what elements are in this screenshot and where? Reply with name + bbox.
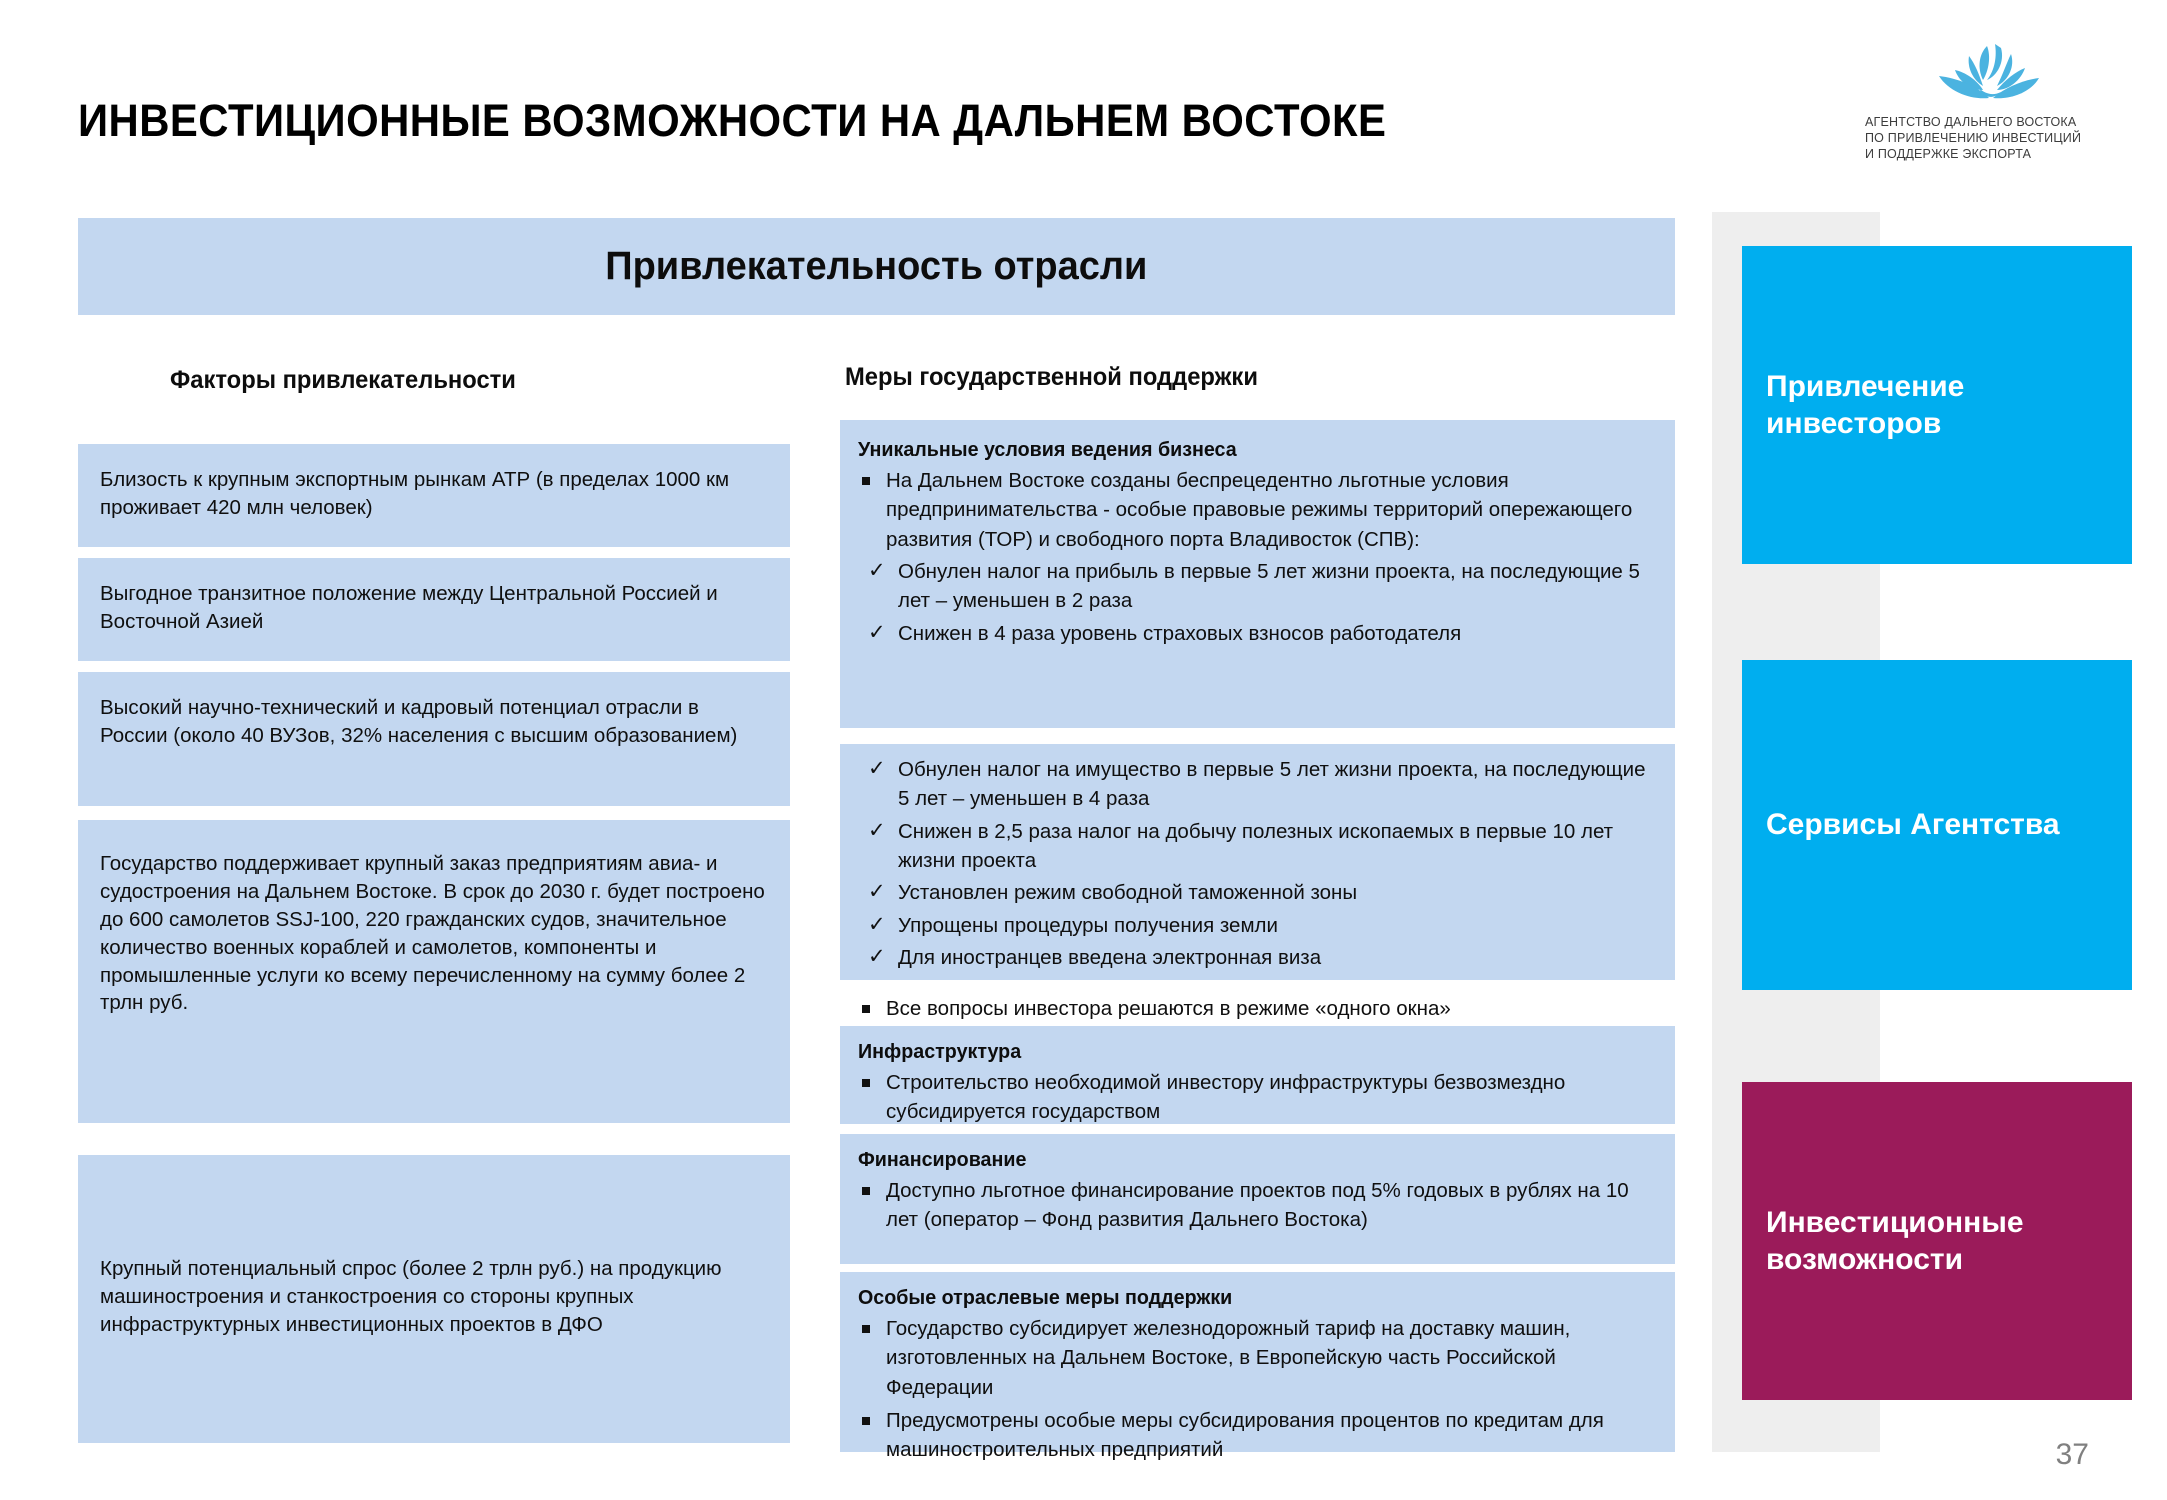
list-item: ✓ Упрощены процедуры получения земли [848,911,1657,940]
list-item-text: Доступно льготное финансирование проекто… [886,1179,1629,1231]
support-section-title: Уникальные условия ведения бизнеса [858,438,1625,462]
square-bullet-icon [862,1187,870,1195]
check-icon: ✓ [868,877,886,907]
list-item-text: Обнулен налог на прибыль в первые 5 лет … [898,560,1640,612]
factor-card-text: Выгодное транзитное положение между Цент… [100,580,768,636]
list-item: На Дальнем Востоке созданы беспрецедентн… [848,466,1657,554]
list-item: ✓ Снижен в 4 раза уровень страховых взно… [848,619,1657,648]
list-item: ✓ Обнулен налог на имущество в первые 5 … [848,755,1657,814]
support-bullet-list: Все вопросы инвестора решаются в режиме … [848,994,1657,1023]
square-bullet-icon [862,1417,870,1425]
support-check-list: ✓ Обнулен налог на имущество в первые 5 … [848,755,1657,972]
support-bullet-list: На Дальнем Востоке созданы беспрецедентн… [848,466,1657,554]
square-bullet-icon [862,1005,870,1013]
logo-text-block: АГЕНТСТВО ДАЛЬНЕГО ВОСТОКА ПО ПРИВЛЕЧЕНИ… [1840,115,2140,162]
sidebar-item-label: Инвестиционные возможности [1766,1204,2132,1278]
square-bullet-icon [862,1079,870,1087]
page-title: ИНВЕСТИЦИОННЫЕ ВОЗМОЖНОСТИ НА ДАЛЬНЕМ ВО… [78,95,1386,147]
factor-card: Высокий научно-технический и кадровый по… [78,672,790,806]
support-bullet-list: Доступно льготное финансирование проекто… [848,1176,1657,1235]
list-item: Государство субсидирует железнодорожный … [848,1314,1657,1402]
check-icon: ✓ [868,618,886,648]
list-item-text: Все вопросы инвестора решаются в режиме … [886,997,1451,1020]
sidebar-item-label: Привлечение инвесторов [1766,368,2132,442]
factor-card-text: Государство поддерживает крупный заказ п… [100,850,768,1017]
factor-card: Крупный потенциальный спрос (более 2 трл… [78,1155,790,1443]
support-bullet-list: Государство субсидирует железнодорожный … [848,1314,1657,1465]
support-section-title: Финансирование [858,1148,1625,1172]
list-item: Все вопросы инвестора решаются в режиме … [848,994,1657,1023]
support-section: Инфраструктура Строительство необходимой… [840,1026,1675,1124]
logo-line-1: АГЕНТСТВО ДАЛЬНЕГО ВОСТОКА [1865,115,2140,131]
list-item-text: Предусмотрены особые меры субсидирования… [886,1409,1604,1461]
factor-card: Выгодное транзитное положение между Цент… [78,558,790,661]
list-item-text: Для иностранцев введена электронная виза [898,946,1321,969]
right-column-heading: Меры государственной поддержки [845,363,1258,392]
support-section-title: Особые отраслевые меры поддержки [858,1286,1625,1310]
factor-card-text: Крупный потенциальный спрос (более 2 трл… [100,1255,768,1339]
support-section-continued: ✓ Обнулен налог на имущество в первые 5 … [840,744,1675,980]
logo-line-3: И ПОДДЕРЖКЕ ЭКСПОРТА [1865,147,2140,163]
sidebar-item-agency-services[interactable]: Сервисы Агентства [1742,660,2132,990]
list-item: ✓ Обнулен налог на прибыль в первые 5 ле… [848,557,1657,616]
banner-title: Привлекательность отрасли [605,244,1147,289]
sidebar-item-attract-investors[interactable]: Привлечение инвесторов [1742,246,2132,564]
list-item: ✓ Снижен в 2,5 раза налог на добычу поле… [848,817,1657,876]
support-section: Финансирование Доступно льготное финанси… [840,1134,1675,1264]
list-item-text: На Дальнем Востоке созданы беспрецедентн… [886,469,1632,551]
list-item-text: Государство субсидирует железнодорожный … [886,1317,1570,1399]
list-item: ✓ Установлен режим свободной таможенной … [848,878,1657,907]
list-item-text: Снижен в 4 раза уровень страховых взносо… [898,622,1461,645]
factor-card-text: Близость к крупным экспортным рынкам АТР… [100,466,768,522]
left-column-heading: Факторы привлекательности [170,366,516,395]
section-banner: Привлекательность отрасли [78,218,1675,315]
square-bullet-icon [862,477,870,485]
check-icon: ✓ [868,942,886,972]
check-icon: ✓ [868,754,886,784]
check-icon: ✓ [868,556,886,586]
page-number: 37 [2056,1438,2089,1472]
list-item: ✓ Для иностранцев введена электронная ви… [848,943,1657,972]
list-item-text: Строительство необходимой инвестору инфр… [886,1071,1565,1123]
list-item-text: Установлен режим свободной таможенной зо… [898,881,1357,904]
factor-card: Государство поддерживает крупный заказ п… [78,820,790,1123]
lotus-flower-icon [1840,40,2140,112]
logo-line-2: ПО ПРИВЛЕЧЕНИЮ ИНВЕСТИЦИЙ [1865,131,2140,147]
list-item-text: Обнулен налог на имущество в первые 5 ле… [898,758,1646,810]
check-icon: ✓ [868,816,886,846]
sidebar-item-label: Сервисы Агентства [1766,806,2060,843]
list-item: Строительство необходимой инвестору инфр… [848,1068,1657,1127]
square-bullet-icon [862,1325,870,1333]
sidebar-item-investment-opportunities[interactable]: Инвестиционные возможности [1742,1082,2132,1400]
support-section-title: Инфраструктура [858,1040,1625,1064]
list-item: Доступно льготное финансирование проекто… [848,1176,1657,1235]
list-item-text: Снижен в 2,5 раза налог на добычу полезн… [898,820,1613,872]
factor-card: Близость к крупным экспортным рынкам АТР… [78,444,790,547]
check-icon: ✓ [868,910,886,940]
slide-root: ИНВЕСТИЦИОННЫЕ ВОЗМОЖНОСТИ НА ДАЛЬНЕМ ВО… [0,0,2167,1500]
support-bullet-list: Строительство необходимой инвестору инфр… [848,1068,1657,1127]
support-section: Особые отраслевые меры поддержки Государ… [840,1272,1675,1452]
support-check-list: ✓ Обнулен налог на прибыль в первые 5 ле… [848,557,1657,648]
agency-logo: АГЕНТСТВО ДАЛЬНЕГО ВОСТОКА ПО ПРИВЛЕЧЕНИ… [1840,40,2140,162]
support-section: Уникальные условия ведения бизнеса На Да… [840,420,1675,728]
list-item-text: Упрощены процедуры получения земли [898,914,1278,937]
list-item: Предусмотрены особые меры субсидирования… [848,1406,1657,1465]
factor-card-text: Высокий научно-технический и кадровый по… [100,694,768,750]
